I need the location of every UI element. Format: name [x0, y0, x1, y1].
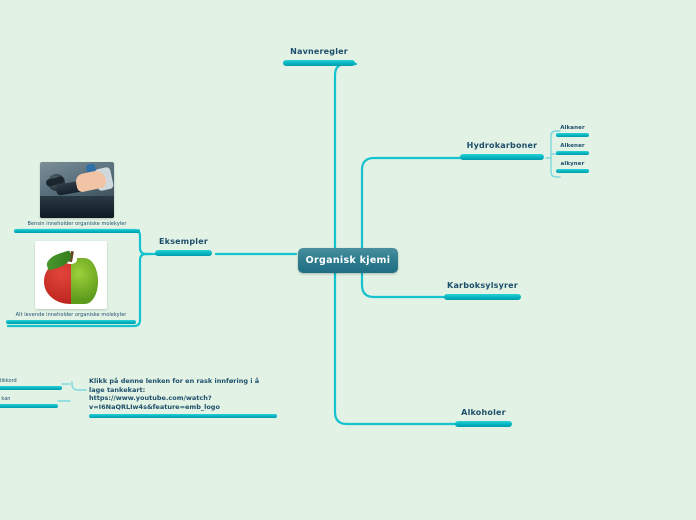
- note-youtube-link[interactable]: Klikk på denne lenken for en rask innfør…: [89, 377, 277, 418]
- branch-alkyner[interactable]: alkyner: [556, 161, 589, 173]
- central-node[interactable]: Organisk kjemi: [298, 248, 398, 273]
- branch-eksempler-label: Eksempler: [155, 237, 212, 246]
- card-bensin[interactable]: Bensin inneholder organiske molekyler: [14, 162, 140, 233]
- mindmap-canvas: Organisk kjemi Navneregler Hydrokarboner…: [0, 0, 696, 520]
- note-clipped-2[interactable]: vil, men det kan: [0, 396, 58, 408]
- branch-alkaner[interactable]: Alkaner: [556, 125, 589, 137]
- gas-pump-photo: [40, 162, 114, 218]
- branch-hydrokarboner-bar: [460, 154, 544, 160]
- wire-alkoholer: [335, 268, 456, 424]
- branch-hydrokarboner[interactable]: Hydrokarboner: [460, 141, 544, 160]
- note-clipped-1-bar: [0, 386, 62, 390]
- branch-eksempler[interactable]: Eksempler: [155, 237, 212, 256]
- branch-alkaner-bar: [556, 133, 589, 137]
- branch-alkyner-label: alkyner: [556, 161, 589, 167]
- central-node-label: Organisk kjemi: [306, 255, 391, 266]
- branch-alkoholer[interactable]: Alkoholer: [455, 408, 512, 427]
- wire-note-link: [72, 382, 86, 390]
- branch-hydrokarboner-label: Hydrokarboner: [460, 141, 544, 150]
- note-clipped-1-text: , og opprett stikkord: [0, 378, 62, 384]
- branch-karboksylsyrer[interactable]: Karboksylsyrer: [444, 281, 521, 300]
- card-apple-caption: Alt levende inneholder organiske molekyl…: [6, 312, 136, 318]
- branch-alkener[interactable]: Alkener: [556, 143, 589, 155]
- car-body-shape: [40, 196, 114, 218]
- note-clipped-1[interactable]: , og opprett stikkord: [0, 378, 62, 390]
- branch-karboksylsyrer-label: Karboksylsyrer: [444, 281, 521, 290]
- branch-alkoholer-bar: [455, 421, 512, 427]
- branch-alkener-label: Alkener: [556, 143, 589, 149]
- note-link-bar: [89, 414, 277, 418]
- branch-eksempler-bar: [155, 250, 212, 256]
- branch-alkoholer-label: Alkoholer: [455, 408, 512, 417]
- card-bensin-caption: Bensin inneholder organiske molekyler: [14, 221, 140, 227]
- note-link-heading: Klikk på denne lenken for en rask innfør…: [89, 377, 277, 394]
- note-clipped-2-bar: [0, 404, 58, 408]
- note-link-url[interactable]: https://www.youtube.com/watch?v=I6NaQRLI…: [89, 394, 277, 411]
- branch-navneregler-bar: [283, 60, 355, 66]
- branch-alkaner-label: Alkaner: [556, 125, 589, 131]
- branch-karboksylsyrer-bar: [444, 294, 521, 300]
- wire-hydrokarboner: [362, 158, 462, 252]
- card-apple-bar: [6, 320, 136, 324]
- branch-navneregler[interactable]: Navneregler: [283, 47, 355, 66]
- wire-alkyner: [551, 172, 560, 177]
- wire-navneregler: [335, 64, 356, 252]
- card-bensin-bar: [14, 229, 140, 233]
- card-apple[interactable]: Alt levende inneholder organiske molekyl…: [6, 241, 136, 324]
- apple-green-half-shape: [71, 258, 98, 304]
- apple-photo: [35, 241, 107, 309]
- branch-alkener-bar: [556, 151, 589, 155]
- note-clipped-2-text: vil, men det kan: [0, 396, 58, 402]
- branch-alkyner-bar: [556, 169, 589, 173]
- branch-navneregler-label: Navneregler: [283, 47, 355, 56]
